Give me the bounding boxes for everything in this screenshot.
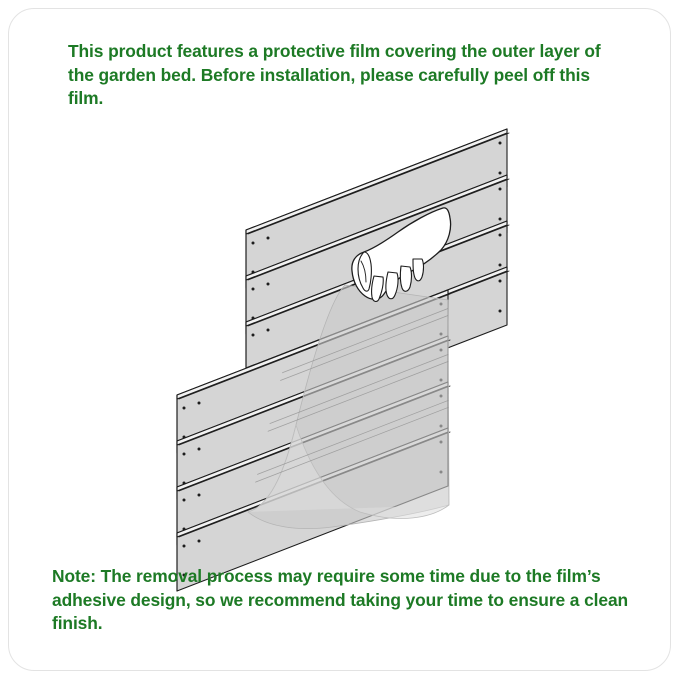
bottom-note-text: Note: The removal process may require so… [52, 565, 630, 636]
instruction-card: This product features a protective film … [0, 0, 679, 679]
